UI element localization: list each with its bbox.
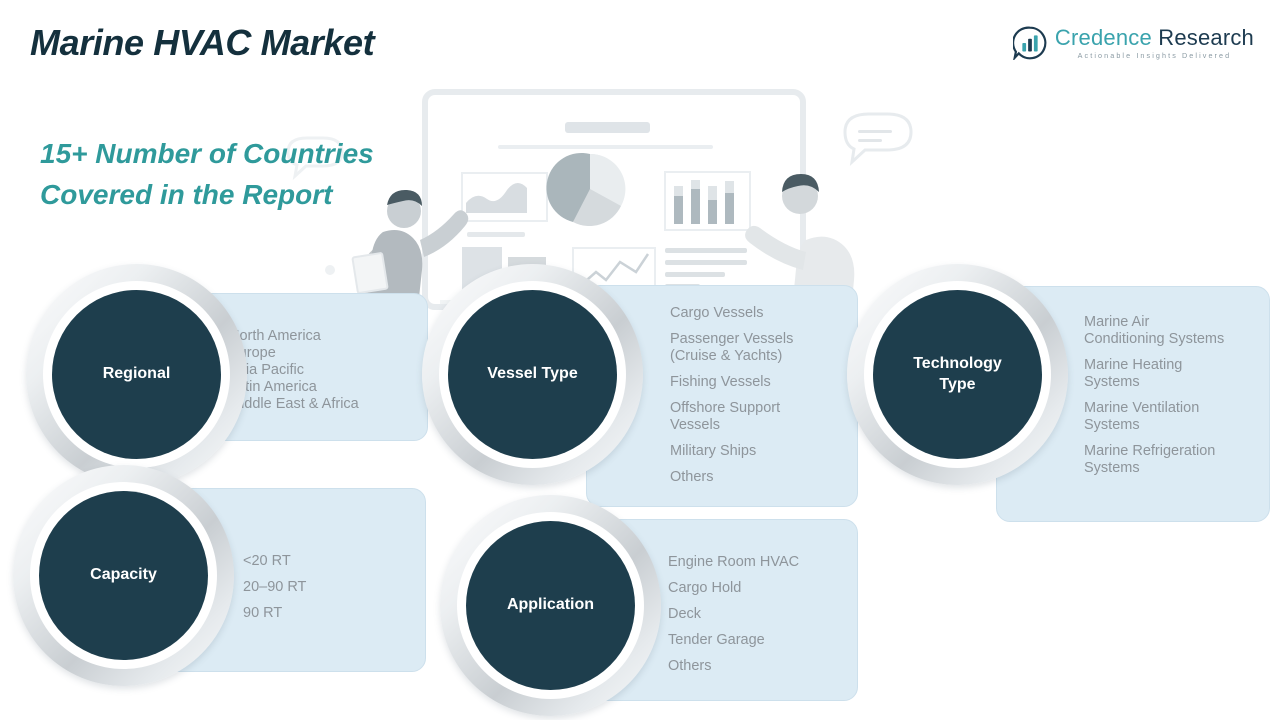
logo-name-credence: Credence	[1055, 25, 1152, 50]
circle-label: Application	[507, 595, 594, 615]
list-item: North America	[229, 328, 429, 345]
list-item: 20–90 RT	[243, 579, 423, 596]
page-title: Marine HVAC Market	[30, 22, 374, 64]
list-item: Cargo Vessels	[670, 305, 865, 322]
list-item: Tender Garage	[668, 632, 858, 649]
list-application: Engine Room HVAC Cargo Hold Deck Tender …	[668, 554, 858, 675]
circle-application[interactable]: Application	[440, 495, 661, 716]
circle-disc: Vessel Type	[448, 290, 617, 459]
list-item: <20 RT	[243, 553, 423, 570]
circle-label: Vessel Type	[487, 364, 577, 384]
list-item: Marine Heating Systems	[1084, 357, 1274, 391]
list-regional: North America Europe Asia Pacific Latin …	[229, 328, 429, 413]
circle-technology-type[interactable]: Technology Type	[847, 264, 1068, 485]
list-item: Deck	[668, 606, 858, 623]
list-item: Fishing Vessels	[670, 374, 865, 391]
list-item: Engine Room HVAC	[668, 554, 858, 571]
circle-disc: Regional	[52, 290, 221, 459]
list-item: Military Ships	[670, 443, 865, 460]
list-item: Asia Pacific	[229, 362, 429, 379]
list-item: Others	[670, 469, 865, 486]
circle-vessel-type[interactable]: Vessel Type	[422, 264, 643, 485]
page-subtitle: 15+ Number of Countries Covered in the R…	[40, 133, 374, 216]
list-item: Offshore Support Vessels	[670, 400, 865, 434]
circle-label: Regional	[103, 364, 171, 384]
circle-disc: Capacity	[39, 491, 208, 660]
list-technology-type: Marine Air Conditioning Systems Marine H…	[1084, 314, 1274, 477]
bar-chart-circle-icon	[1013, 26, 1047, 60]
company-logo[interactable]: Credence Research Actionable Insights De…	[1013, 26, 1254, 60]
circle-disc: Technology Type	[873, 290, 1042, 459]
circle-label: Capacity	[90, 565, 157, 585]
list-item: Middle East & Africa	[229, 396, 429, 413]
circle-label: Technology Type	[913, 354, 1002, 395]
logo-name-research: Research	[1158, 25, 1254, 50]
list-item: 90 RT	[243, 605, 423, 622]
logo-tagline: Actionable Insights Delivered	[1055, 51, 1254, 60]
list-item: Latin America	[229, 379, 429, 396]
circle-disc: Application	[466, 521, 635, 690]
list-item: Others	[668, 658, 858, 675]
list-item: Marine Ventilation Systems	[1084, 400, 1274, 434]
circle-capacity[interactable]: Capacity	[13, 465, 234, 686]
list-capacity: <20 RT 20–90 RT 90 RT	[243, 553, 423, 622]
list-vessel-type: Cargo Vessels Passenger Vessels (Cruise …	[670, 305, 865, 486]
list-item: Europe	[229, 345, 429, 362]
circle-regional[interactable]: Regional	[26, 264, 247, 485]
list-item: Marine Refrigeration Systems	[1084, 443, 1274, 477]
list-item: Passenger Vessels (Cruise & Yachts)	[670, 331, 865, 365]
list-item: Marine Air Conditioning Systems	[1084, 314, 1274, 348]
list-item: Cargo Hold	[668, 580, 858, 597]
